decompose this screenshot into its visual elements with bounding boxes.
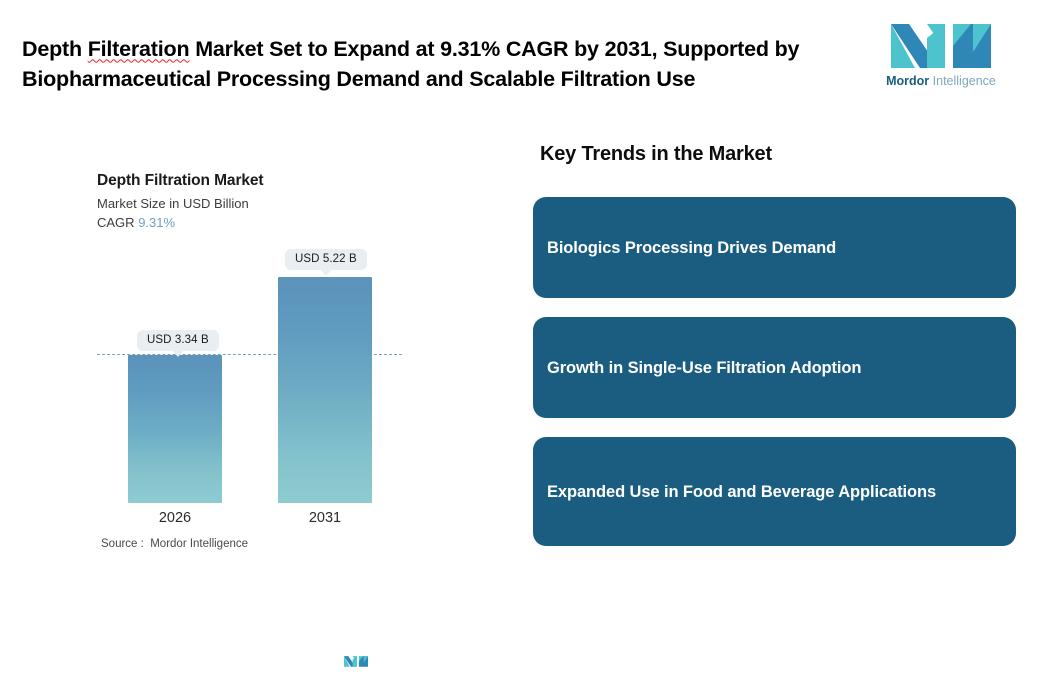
brand-name-bold: Mordor [886,74,929,88]
page-title-misspelled-word: Filteration [88,37,190,61]
bar-value-label-2026: USD 3.34 B [137,330,219,351]
trend-card-label: Biologics Processing Drives Demand [547,236,836,260]
bar-chart-plot: USD 3.34 B USD 5.22 B 2026 2031 Source :… [0,118,520,538]
trend-card-label: Growth in Single-Use Filtration Adoption [547,356,861,380]
bar-2031[interactable] [278,277,372,503]
trend-card-label: Expanded Use in Food and Beverage Applic… [547,480,936,504]
bar-value-label-2031: USD 5.22 B [285,249,367,270]
x-axis-tick-2026: 2026 [128,510,222,526]
mordor-intelligence-logo-icon [887,16,995,72]
key-trends-heading: Key Trends in the Market [540,143,772,166]
mordor-intelligence-mark-icon [343,653,369,669]
bar-2026[interactable] [128,355,222,503]
brand-logo: Mordor Intelligence [881,16,1001,98]
brand-name-light: Intelligence [933,74,996,88]
page-title-text-before: Depth [22,37,88,61]
trend-card[interactable]: Expanded Use in Food and Beverage Applic… [533,437,1016,546]
x-axis-tick-2031: 2031 [278,510,372,526]
chart-panel: Depth Filtration Market Market Size in U… [0,118,520,582]
trend-card[interactable]: Biologics Processing Drives Demand [533,197,1016,298]
page-title: Depth Filteration Market Set to Expand a… [22,34,832,94]
trend-card[interactable]: Growth in Single-Use Filtration Adoption [533,317,1016,418]
chart-source-label: Source : Mordor Intelligence [101,538,248,550]
key-trends-panel: Key Trends in the Market Biologics Proce… [533,118,1023,582]
brand-wordmark: Mordor Intelligence [881,74,1001,89]
header: Depth Filteration Market Set to Expand a… [0,0,1048,118]
